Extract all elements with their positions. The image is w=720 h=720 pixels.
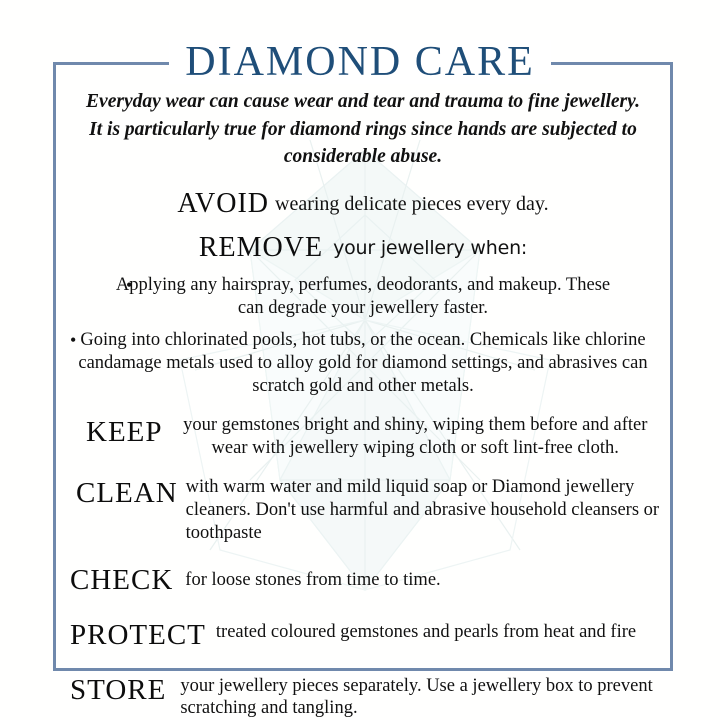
store-keyword-cell: STORE — [70, 672, 166, 707]
store-section: STORE your jewellery pieces separately. … — [64, 672, 662, 720]
remove-keyword: REMOVE — [199, 232, 323, 263]
diamond-care-poster: DIAMOND CARE Everyday wear can cause wea… — [0, 0, 720, 720]
list-item: •Applying any hairspray, perfumes, deodo… — [64, 274, 662, 320]
check-keyword: CHECK — [70, 564, 173, 596]
remove-bullet-list: •Applying any hairspray, perfumes, deodo… — [64, 274, 662, 398]
avoid-section: AVOIDwearing delicate pieces every day. — [64, 188, 662, 220]
check-section: CHECK for loose stones from time to time… — [64, 562, 662, 597]
list-item-text: Applying any hairspray, perfumes, deodor… — [116, 275, 610, 318]
list-item: •Going into chlorinated pools, hot tubs,… — [64, 329, 662, 398]
check-keyword-cell: CHECK — [70, 562, 173, 597]
check-text: for loose stones from time to time. — [185, 562, 662, 592]
list-item-text: Going into chlorinated pools, hot tubs, … — [78, 330, 647, 396]
keep-keyword-cell: KEEP — [86, 414, 163, 449]
bullet-marker-icon: • — [70, 329, 76, 351]
store-keyword: STORE — [70, 674, 166, 706]
clean-section: CLEAN with warm water and mild liquid so… — [64, 475, 662, 544]
title-container: DIAMOND CARE — [0, 40, 720, 84]
remove-section: REMOVEyour jewellery when: — [64, 232, 662, 264]
clean-text: with warm water and mild liquid soap or … — [186, 475, 662, 544]
keep-section: KEEP your gemstones bright and shiny, wi… — [64, 414, 662, 460]
protect-keyword-cell: PROTECT — [70, 617, 206, 652]
intro-paragraph: Everyday wear can cause wear and tear an… — [78, 88, 648, 171]
poster-content: Everyday wear can cause wear and tear an… — [56, 88, 670, 720]
page-title: DIAMOND CARE — [169, 40, 551, 84]
keep-keyword: KEEP — [86, 416, 163, 448]
clean-keyword: CLEAN — [76, 477, 178, 509]
store-text: your jewellery pieces separately. Use a … — [180, 672, 662, 720]
clean-keyword-cell: CLEAN — [76, 475, 178, 510]
protect-section: PROTECT treated coloured gemstones and p… — [64, 617, 662, 652]
keep-text: your gemstones bright and shiny, wiping … — [173, 414, 663, 460]
avoid-text: wearing delicate pieces every day. — [275, 193, 549, 215]
avoid-keyword: AVOID — [177, 188, 269, 219]
bullet-marker-icon: • — [126, 274, 132, 296]
protect-keyword: PROTECT — [70, 619, 206, 651]
protect-text: treated coloured gemstones and pearls fr… — [216, 617, 662, 644]
remove-text: your jewellery when: — [333, 237, 527, 259]
